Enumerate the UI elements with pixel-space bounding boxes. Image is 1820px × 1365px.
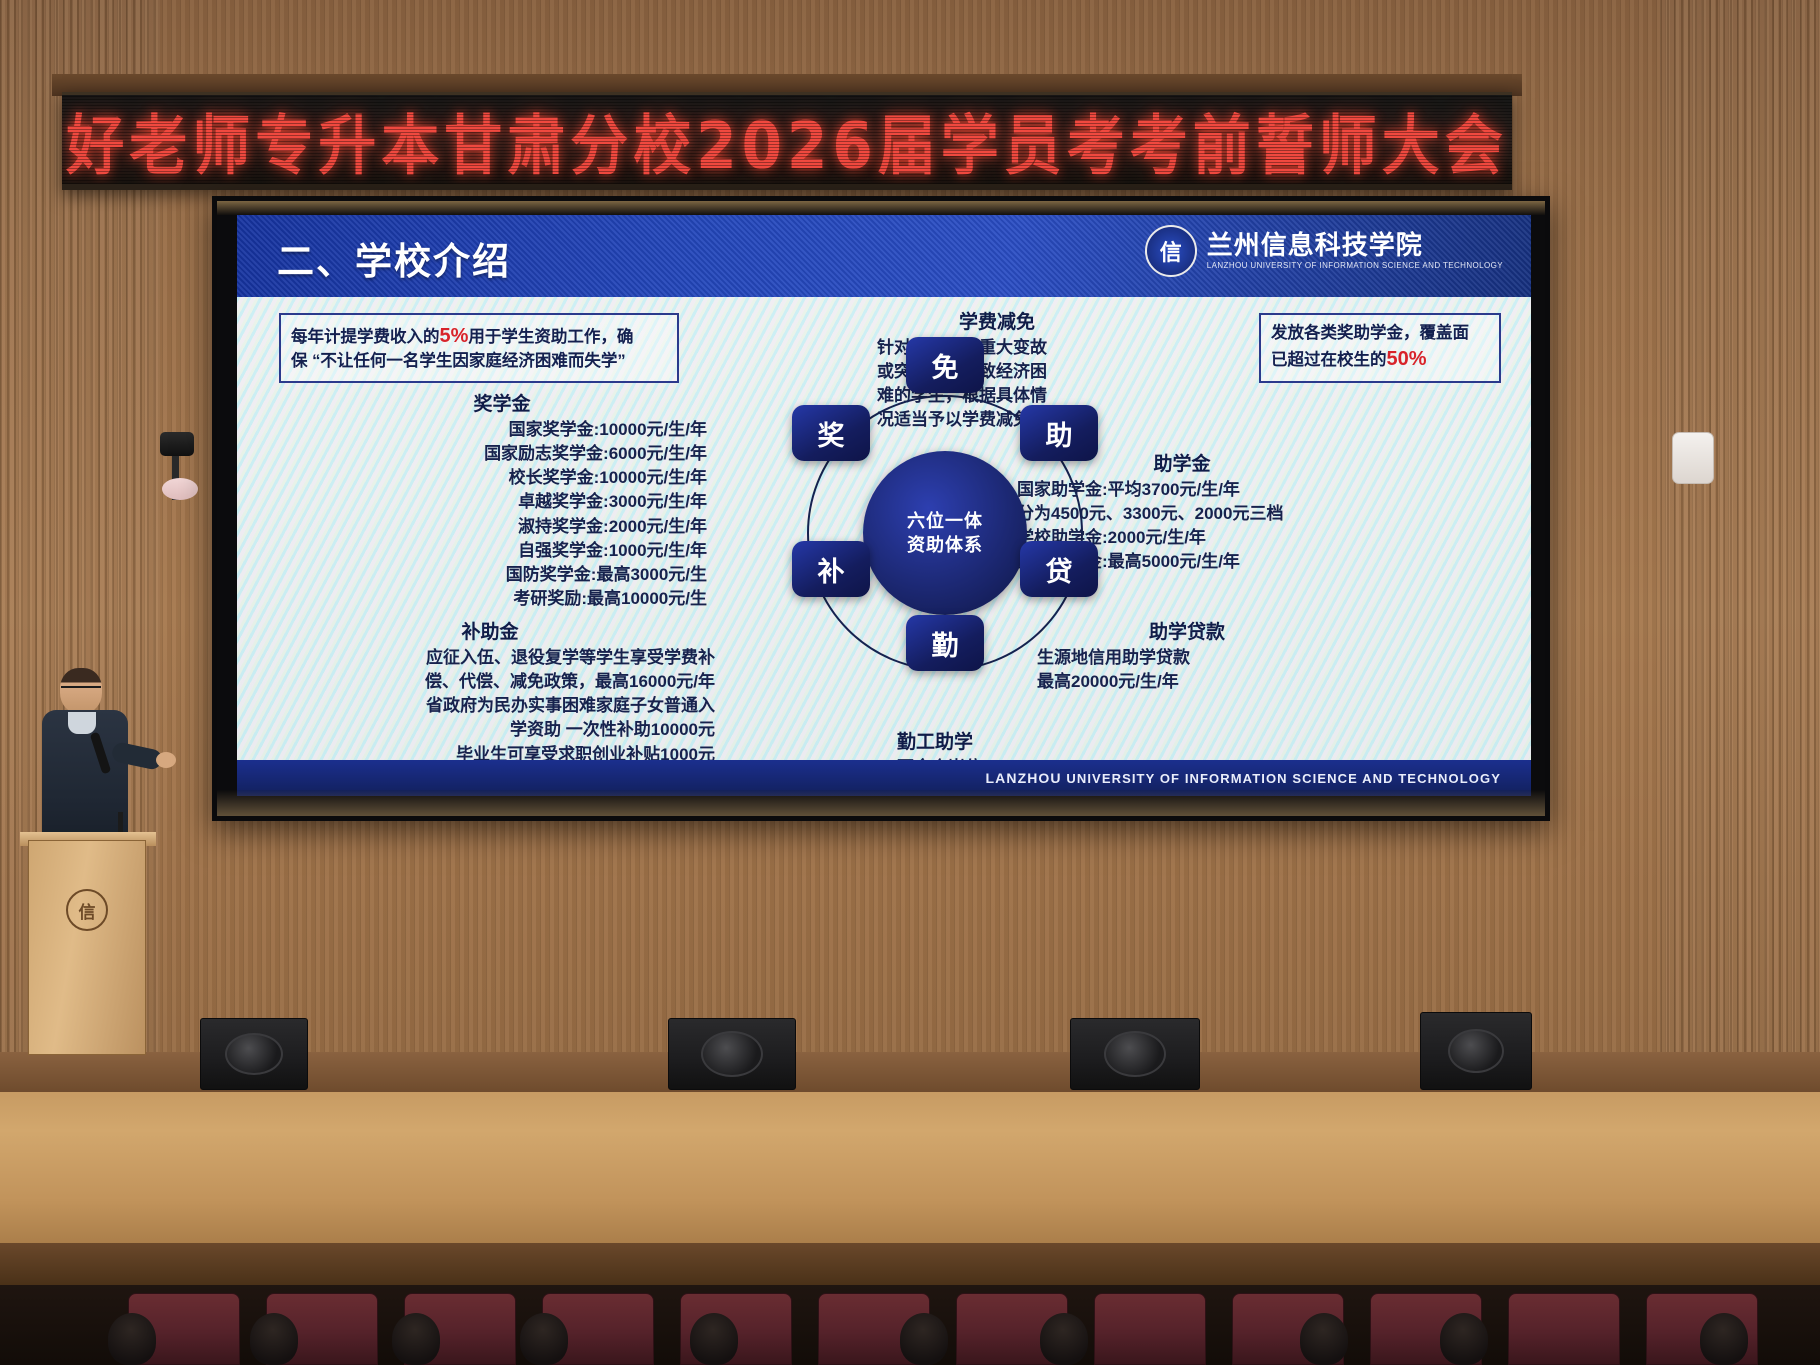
audience-head <box>1300 1313 1348 1365</box>
reduction-heading: 学费减免 <box>877 307 1117 334</box>
diagram-node-jiang: 奖 <box>792 405 870 461</box>
audience-head <box>392 1313 440 1365</box>
auditorium-room: 好老师专升本甘肃分校2026届学员考考前誓师大会 二、学校介绍 信 兰州信息科技… <box>0 0 1820 1365</box>
logo-text-group: 兰州信息科技学院 LANZHOU UNIVERSITY OF INFORMATI… <box>1207 232 1503 271</box>
speaker-grille-icon <box>1448 1029 1504 1073</box>
callout-left-line1b: 用于学生资助工作，确 <box>468 328 633 346</box>
section-subsidy: 补助金 应征入伍、退役复学等学生享受学费补 偿、代偿、减免政策，最高16000元… <box>265 617 715 767</box>
list-item: 国家励志奖学金:6000元/生/年 <box>297 442 707 466</box>
callout-box-left: 每年计提学费收入的5%用于学生资助工作，确 保 “不让任何一名学生因家庭经济困难… <box>279 313 679 383</box>
slide-footer-band: LANZHOU UNIVERSITY OF INFORMATION SCIENC… <box>237 760 1531 796</box>
diagram-node-dai: 贷 <box>1020 541 1098 597</box>
callout-box-right: 发放各类奖助学金，覆盖面 已超过在校生的50% <box>1259 313 1501 383</box>
footer-brand: LANZHOU <box>986 770 1062 786</box>
slide-body: 每年计提学费收入的5%用于学生资助工作，确 保 “不让任何一名学生因家庭经济困难… <box>237 297 1531 760</box>
audience-head <box>1040 1313 1088 1365</box>
diagram-node-zhu: 助 <box>1020 405 1098 461</box>
list-item: 应征入伍、退役复学等学生享受学费补 <box>265 646 715 670</box>
diagram-center-line1: 六位一体 <box>907 509 983 533</box>
audience-head <box>1700 1313 1748 1365</box>
callout-left-line1a: 每年计提学费收入的 <box>291 328 440 346</box>
presenter-person <box>38 668 156 858</box>
audience-head <box>1440 1313 1488 1365</box>
audience-seat <box>1508 1293 1620 1365</box>
list-item: 自强奖学金:1000元/生/年 <box>297 539 707 563</box>
logo-name-cn: 兰州信息科技学院 <box>1207 232 1503 259</box>
callout-left-line2: 保 “不让任何一名学生因家庭经济困难而失学” <box>291 350 667 373</box>
callout-left-percent: 5% <box>440 325 469 347</box>
speaker-grille-icon <box>701 1031 763 1077</box>
list-item: 国防奖学金:最高3000元/生 <box>297 563 707 587</box>
stage-monitor-speaker <box>1070 1018 1200 1090</box>
audience-head <box>520 1313 568 1365</box>
callout-right-line2a: 已超过在校生的 <box>1271 351 1387 369</box>
podium: 信 <box>28 840 146 1055</box>
callout-right-line2-wrap: 已超过在校生的50% <box>1271 345 1489 373</box>
university-logo: 信 兰州信息科技学院 LANZHOU UNIVERSITY OF INFORMA… <box>1145 225 1503 277</box>
speaker-grille-icon <box>225 1033 283 1075</box>
presenter-collar <box>68 712 96 734</box>
diagram-node-bu: 补 <box>792 541 870 597</box>
stage-front-edge <box>0 1243 1820 1285</box>
list-item: 淑持奖学金:2000元/生/年 <box>297 515 707 539</box>
list-item: 卓越奖学金:3000元/生/年 <box>297 490 707 514</box>
diagram-center-circle: 六位一体 资助体系 <box>863 451 1027 615</box>
stage-monitor-speaker <box>200 1018 308 1090</box>
six-in-one-diagram: 六位一体 资助体系 免 助 贷 勤 补 奖 <box>755 343 1135 743</box>
section-scholarship: 奖学金 国家奖学金:10000元/生/年 国家励志奖学金:6000元/生/年 校… <box>297 389 707 611</box>
wall-panel-right <box>1660 0 1820 1110</box>
wall-light-icon <box>162 478 198 500</box>
presentation-slide: 二、学校介绍 信 兰州信息科技学院 LANZHOU UNIVERSITY OF … <box>237 215 1531 796</box>
callout-right-percent: 50% <box>1387 348 1427 370</box>
logo-name-en: LANZHOU UNIVERSITY OF INFORMATION SCIENC… <box>1207 262 1503 270</box>
list-item: 偿、代偿、减免政策，最高16000元/年 <box>265 670 715 694</box>
slide-title: 二、学校介绍 <box>277 231 511 285</box>
footer-rest: UNIVERSITY OF INFORMATION SCIENCE AND TE… <box>1066 771 1501 786</box>
podium-seal-icon: 信 <box>66 889 108 931</box>
list-item: 国家奖学金:10000元/生/年 <box>297 418 707 442</box>
scholarship-heading: 奖学金 <box>297 389 707 416</box>
led-banner: 好老师专升本甘肃分校2026届学员考考前誓师大会 <box>62 92 1512 190</box>
stage-floor <box>0 1092 1820 1247</box>
scholarship-list: 国家奖学金:10000元/生/年 国家励志奖学金:6000元/生/年 校长奖学金… <box>297 418 707 611</box>
callout-right-line1: 发放各类奖助学金，覆盖面 <box>1271 322 1489 345</box>
wall-camera-icon <box>160 432 194 456</box>
audience-head <box>108 1313 156 1365</box>
screen-glare-top <box>217 201 1545 215</box>
speaker-grille-icon <box>1104 1031 1166 1077</box>
audience-head <box>900 1313 948 1365</box>
list-item: 考研奖励:最高10000元/生 <box>297 587 707 611</box>
projection-screen: 二、学校介绍 信 兰州信息科技学院 LANZHOU UNIVERSITY OF … <box>212 196 1550 821</box>
list-item: 省政府为民办实事困难家庭子女普通入 <box>265 694 715 718</box>
stage-monitor-speaker <box>668 1018 796 1090</box>
diagram-center-line2: 资助体系 <box>907 533 983 557</box>
diagram-node-qin: 勤 <box>906 615 984 671</box>
stage-monitor-speaker <box>1420 1012 1532 1090</box>
university-seal-icon: 信 <box>1145 225 1197 277</box>
presenter-hand <box>156 752 176 768</box>
subsidy-list: 应征入伍、退役复学等学生享受学费补 偿、代偿、减免政策，最高16000元/年 省… <box>265 646 715 767</box>
subsidy-heading: 补助金 <box>265 617 715 644</box>
wall-speaker-device <box>1672 432 1714 484</box>
diagram-node-mian: 免 <box>906 337 984 393</box>
audience-head <box>690 1313 738 1365</box>
glasses-icon <box>61 686 101 695</box>
list-item: 学资助 一次性补助10000元 <box>265 718 715 742</box>
slide-footer-text: LANZHOU UNIVERSITY OF INFORMATION SCIENC… <box>986 770 1502 786</box>
led-banner-text: 好老师专升本甘肃分校2026届学员考考前誓师大会 <box>66 92 1507 186</box>
list-item: 校长奖学金:10000元/生/年 <box>297 466 707 490</box>
audience-area <box>0 1285 1820 1365</box>
audience-seat <box>1094 1293 1206 1365</box>
audience-head <box>250 1313 298 1365</box>
